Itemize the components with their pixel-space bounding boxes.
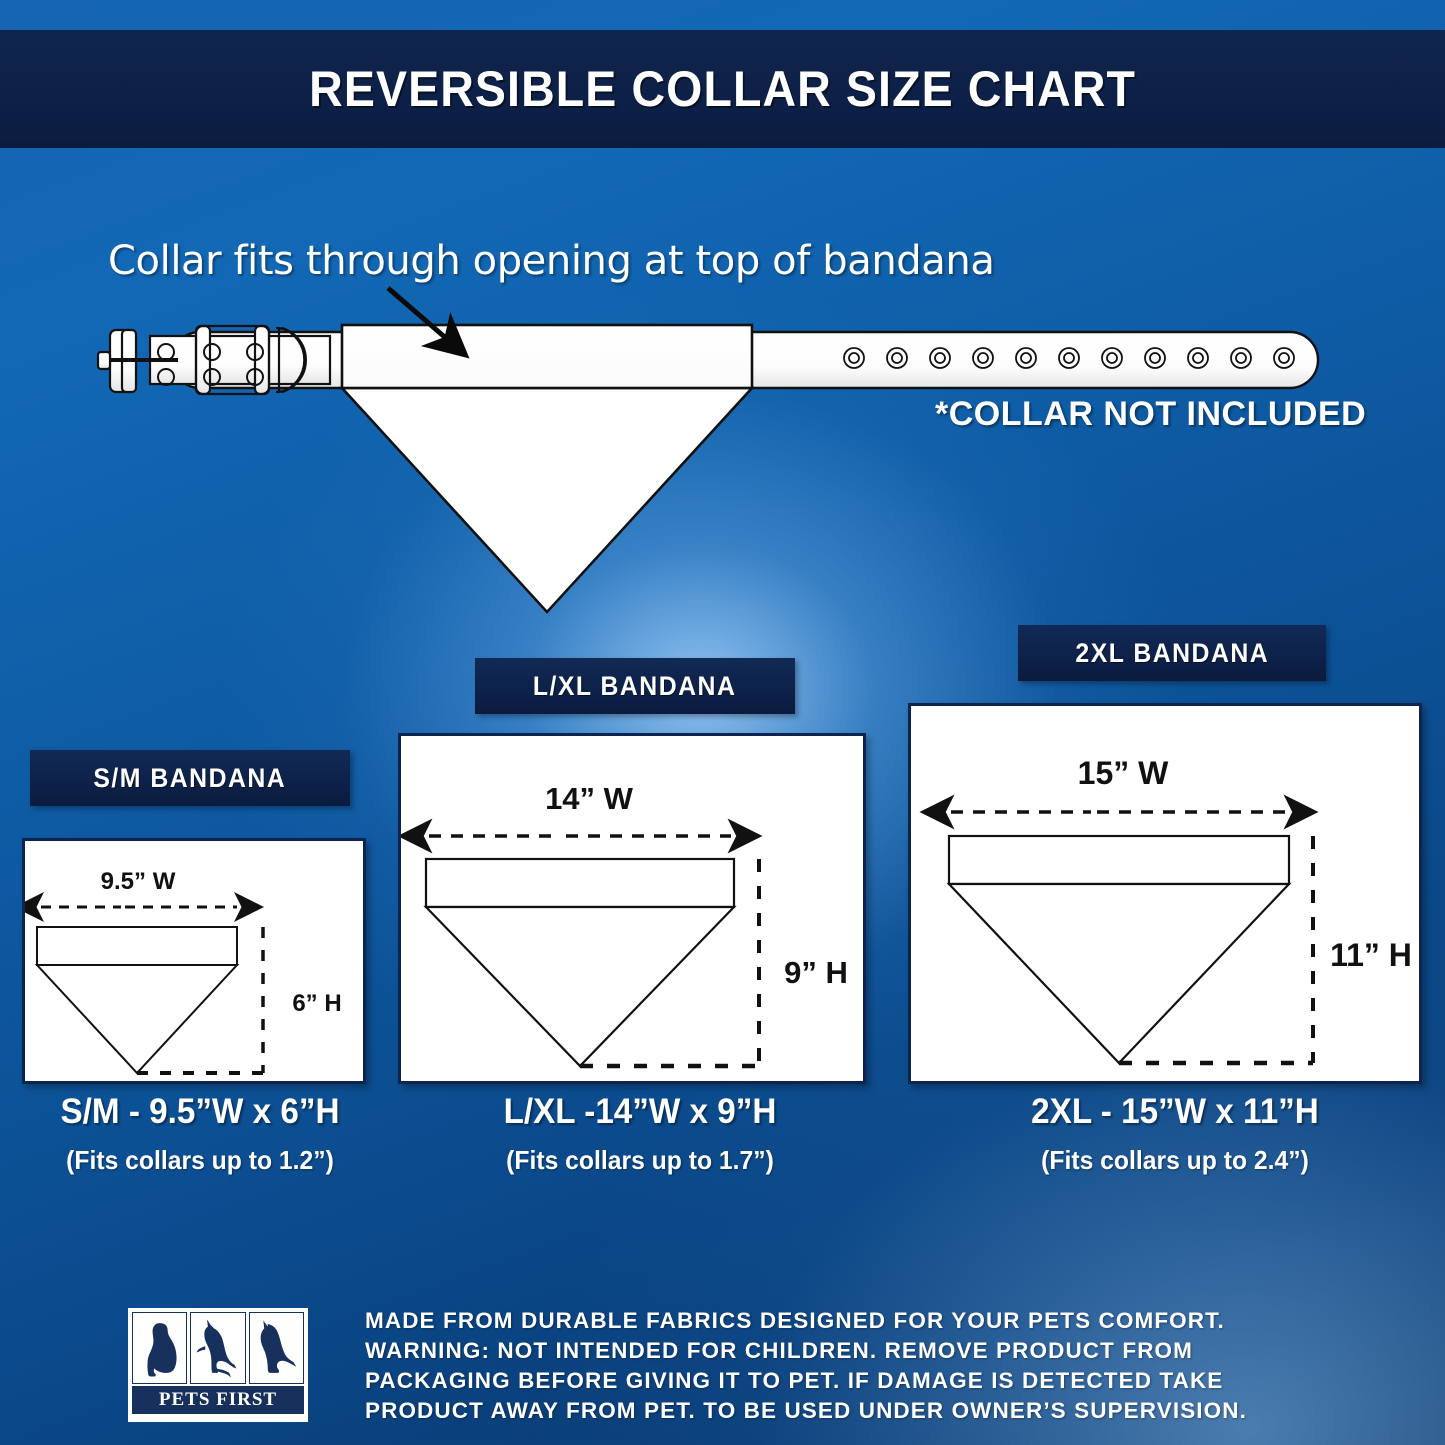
xxl-width-label: 15” W — [1078, 755, 1169, 791]
dog-sitting-left-icon — [132, 1312, 187, 1384]
bandana-triangle — [342, 388, 752, 612]
disclaimer-line-3: PACKAGING BEFORE GIVING IT TO PET. IF DA… — [365, 1366, 1365, 1396]
caption-sm-sub: (Fits collars up to 1.2”) — [10, 1145, 390, 1176]
bandana-sleeve — [342, 325, 752, 388]
size-header-2xl: 2XL BANDANA — [1018, 625, 1326, 681]
diagram-sm: 9.5” W 6” H — [25, 841, 363, 1081]
pets-first-logo: PETS FIRST — [128, 1308, 308, 1422]
diagram-lxl: 14” W 9” H — [401, 736, 863, 1081]
callout-arrow-icon — [388, 288, 462, 352]
size-header-sm: S/M BANDANA — [30, 750, 350, 806]
dog-shaking-paw-icon — [190, 1312, 245, 1384]
caption-lxl-sub: (Fits collars up to 1.7”) — [441, 1145, 840, 1176]
disclaimer-text: MADE FROM DURABLE FABRICS DESIGNED FOR Y… — [365, 1306, 1365, 1426]
collar-strap — [150, 332, 1318, 388]
dog-sitting-right-icon — [249, 1312, 304, 1384]
disclaimer-line-2: WARNING: NOT INTENDED FOR CHILDREN. REMO… — [365, 1336, 1365, 1366]
caption-lxl: L/XL -14”W x 9”H (Fits collars up to 1.7… — [430, 1092, 850, 1176]
lxl-width-label: 14” W — [545, 781, 634, 816]
buckle-rivets — [158, 344, 263, 385]
sm-height-label: 6” H — [292, 990, 341, 1017]
logo-brand-text: PETS FIRST — [159, 1389, 277, 1411]
size-chart-canvas: REVERSIBLE COLLAR SIZE CHART Collar fits… — [0, 0, 1445, 1445]
size-header-lxl: L/XL BANDANA — [475, 658, 795, 714]
page-title: REVERSIBLE COLLAR SIZE CHART — [309, 60, 1136, 118]
disclaimer-line-4: PRODUCT AWAY FROM PET. TO BE USED UNDER … — [365, 1396, 1365, 1426]
diagram-panel-lxl: 14” W 9” H — [398, 733, 866, 1084]
caption-sm-title: S/M - 9.5”W x 6”H — [10, 1092, 390, 1133]
size-header-2xl-label: 2XL BANDANA — [1075, 638, 1269, 669]
xxl-height-label: 11” H — [1330, 937, 1412, 973]
caption-2xl-sub: (Fits collars up to 2.4”) — [971, 1145, 1380, 1176]
collar-adjustment-holes — [844, 348, 1294, 368]
size-header-sm-label: S/M BANDANA — [94, 763, 287, 794]
sm-width-label: 9.5” W — [101, 868, 176, 895]
collar-opening-callout: Collar fits through opening at top of ba… — [108, 238, 1168, 284]
lxl-height-label: 9” H — [784, 955, 848, 990]
title-band: REVERSIBLE COLLAR SIZE CHART — [0, 30, 1445, 148]
caption-lxl-title: L/XL -14”W x 9”H — [441, 1092, 840, 1133]
disclaimer-line-1: MADE FROM DURABLE FABRICS DESIGNED FOR Y… — [365, 1306, 1365, 1336]
diagram-panel-2xl: 15” W 11” H — [908, 703, 1422, 1084]
logo-brand-plate: PETS FIRST — [132, 1386, 304, 1414]
diagram-2xl: 15” W 11” H — [911, 706, 1419, 1081]
collar-not-included-note: *COLLAR NOT INCLUDED — [935, 395, 1366, 434]
caption-sm: S/M - 9.5”W x 6”H (Fits collars up to 1.… — [0, 1092, 400, 1176]
caption-2xl: 2XL - 15”W x 11”H (Fits collars up to 2.… — [960, 1092, 1390, 1176]
caption-2xl-title: 2XL - 15”W x 11”H — [971, 1092, 1380, 1133]
collar-buckle — [98, 326, 306, 394]
diagram-panel-sm: 9.5” W 6” H — [22, 838, 366, 1084]
logo-dog-panels — [128, 1308, 308, 1384]
size-header-lxl-label: L/XL BANDANA — [533, 671, 737, 702]
